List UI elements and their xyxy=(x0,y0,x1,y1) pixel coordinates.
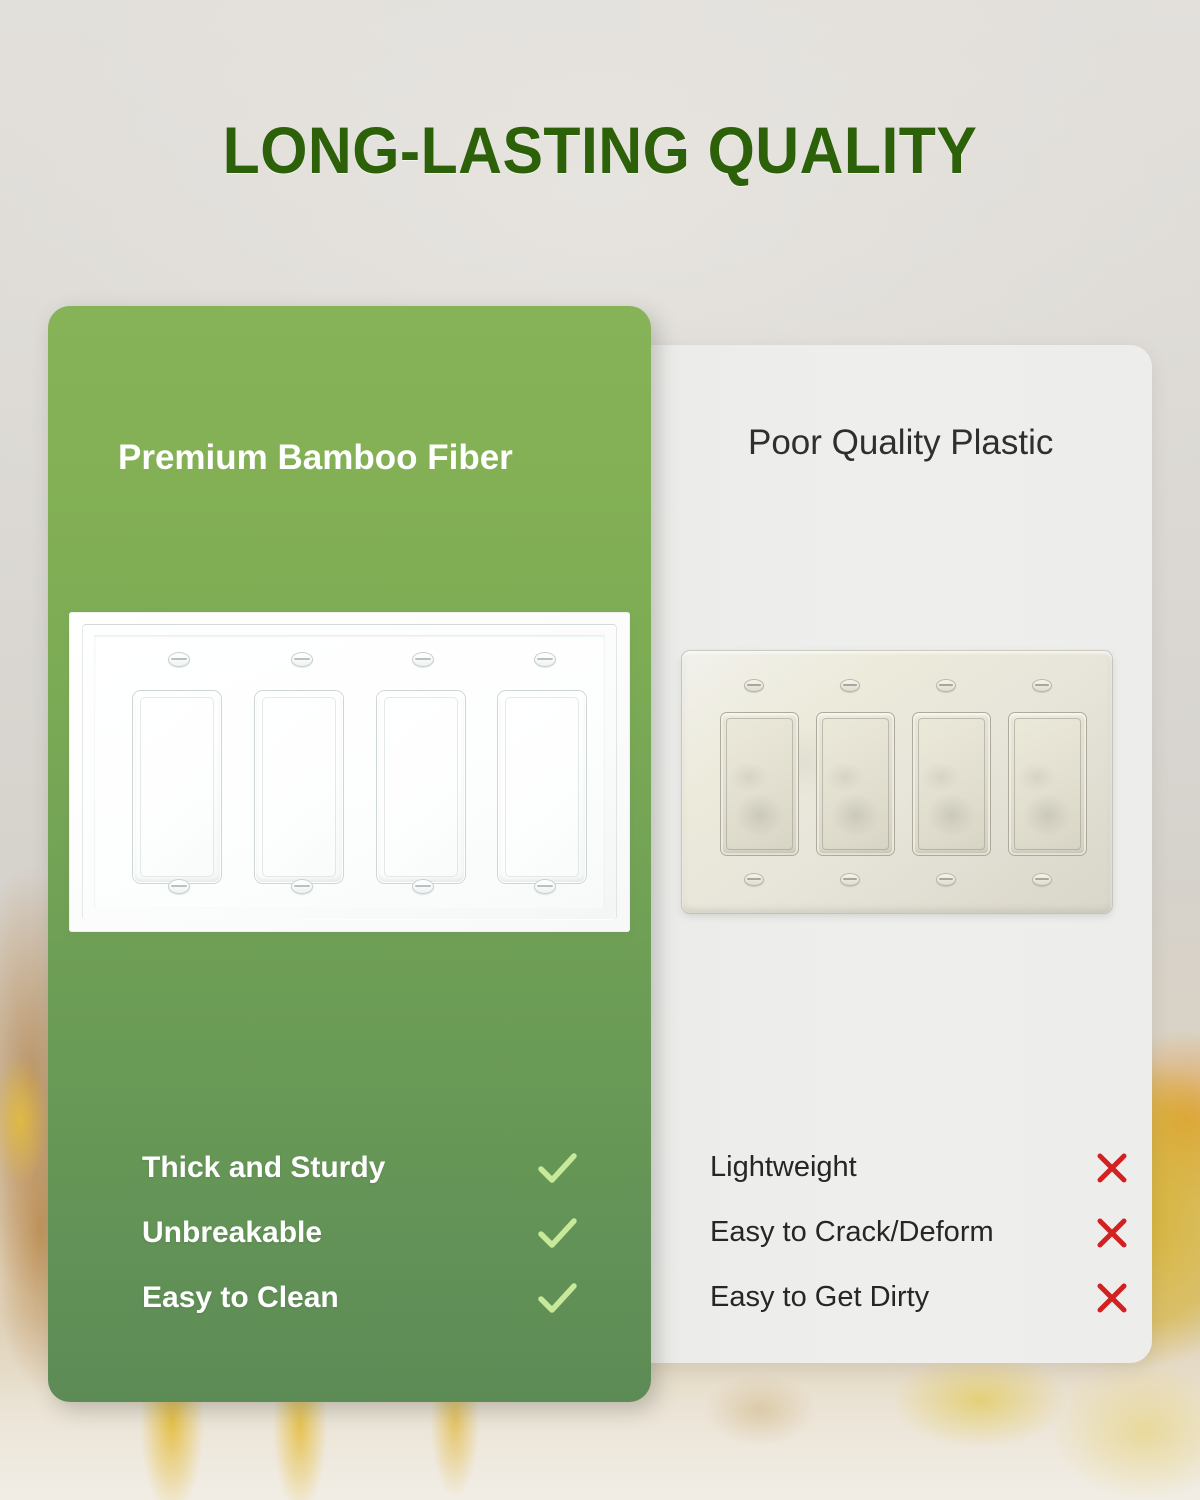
x-icon xyxy=(1090,1211,1134,1255)
rocker-switch xyxy=(377,691,465,883)
rocker-switch xyxy=(1009,713,1086,855)
feature-row: Thick and Sturdy xyxy=(142,1135,562,1200)
screw-icon xyxy=(840,873,860,886)
screw-icon xyxy=(936,873,956,886)
rocker-switch xyxy=(255,691,343,883)
check-icon xyxy=(532,1273,582,1323)
rocker-switch xyxy=(133,691,221,883)
x-icon xyxy=(1090,1146,1134,1190)
rocker-switch xyxy=(817,713,894,855)
screw-icon xyxy=(936,679,956,692)
feature-row: Easy to Get Dirty xyxy=(710,1265,1110,1330)
feature-row: Easy to Crack/Deform xyxy=(710,1200,1110,1265)
feature-label: Unbreakable xyxy=(142,1216,322,1250)
screw-icon xyxy=(1032,679,1052,692)
screw-icon xyxy=(534,652,556,667)
feature-label: Thick and Sturdy xyxy=(142,1151,385,1185)
page-title: LONG-LASTING QUALITY xyxy=(48,112,1152,188)
screw-icon xyxy=(744,679,764,692)
feature-label: Easy to Clean xyxy=(142,1281,339,1315)
screw-icon xyxy=(291,879,313,894)
feature-label: Easy to Get Dirty xyxy=(710,1281,929,1314)
screw-icon xyxy=(168,652,190,667)
poor-quality-heading: Poor Quality Plastic xyxy=(748,423,1053,463)
x-icon xyxy=(1090,1276,1134,1320)
check-icon xyxy=(532,1143,582,1193)
rocker-switch xyxy=(913,713,990,855)
comparison-infographic: LONG-LASTING QUALITY Poor Quality Plasti… xyxy=(0,0,1200,1500)
screw-icon xyxy=(412,879,434,894)
screw-icon xyxy=(168,879,190,894)
feature-row: Easy to Clean xyxy=(142,1265,562,1330)
premium-product-image xyxy=(69,612,630,932)
screw-icon xyxy=(840,679,860,692)
rocker-switch xyxy=(498,691,586,883)
poor-quality-feature-list: Lightweight Easy to Crack/Deform Easy to… xyxy=(710,1135,1110,1330)
screw-icon xyxy=(744,873,764,886)
screw-icon xyxy=(1032,873,1052,886)
screw-icon xyxy=(291,652,313,667)
rocker-switch xyxy=(721,713,798,855)
feature-label: Easy to Crack/Deform xyxy=(710,1216,994,1249)
feature-row: Unbreakable xyxy=(142,1200,562,1265)
check-icon xyxy=(532,1208,582,1258)
screw-icon xyxy=(412,652,434,667)
screw-icon xyxy=(534,879,556,894)
feature-row: Lightweight xyxy=(710,1135,1110,1200)
poor-quality-product-image xyxy=(682,651,1112,913)
feature-label: Lightweight xyxy=(710,1151,857,1184)
premium-heading: Premium Bamboo Fiber xyxy=(118,438,513,478)
premium-feature-list: Thick and Sturdy Unbreakable Easy to Cle… xyxy=(142,1135,562,1330)
